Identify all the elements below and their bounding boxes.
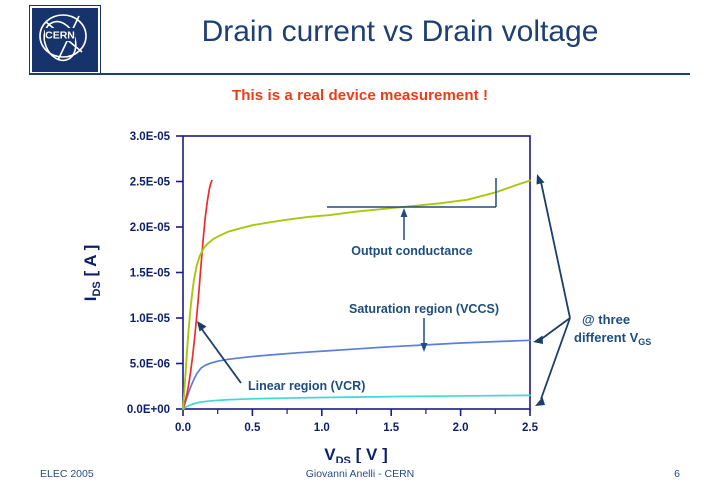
x-axis-title-main: V [324, 445, 336, 463]
x-axis-title: VDS [ V ] [324, 445, 387, 463]
x-tick-label: 1.5 [383, 422, 400, 434]
three-vgs-label-line2: different VGS [574, 330, 651, 347]
cern-logo: CERN [30, 6, 100, 74]
y-tick-label: 2.5E-05 [130, 177, 171, 189]
x-axis-title-unit: [ V ] [356, 445, 388, 463]
three-vgs-label-line2-sub: GS [638, 337, 651, 347]
y-axis-ticks [176, 136, 183, 409]
y-axis-title-sub: DS [91, 281, 103, 296]
y-tick-label: 1.0E-05 [130, 313, 171, 325]
id-vs-vds-chart: 0.0E+00 5.0E-06 1.0E-05 1.5E-05 2.0E-05 … [0, 118, 720, 463]
saturation-region-label: Saturation region (VCCS) [349, 302, 499, 316]
three-vgs-label-line2-pre: different V [574, 330, 639, 345]
footer-author-label: Giovanni Anelli - CERN [0, 468, 720, 480]
x-axis-ticks [183, 409, 530, 416]
linear-region-label: Linear region (VCR) [248, 379, 365, 393]
x-tick-label: 1.0 [314, 422, 330, 434]
plot-axes [183, 136, 530, 409]
three-vgs-label-line1: @ three [582, 312, 630, 327]
slide-header: CERN Drain current vs Drain voltage [0, 0, 720, 78]
output-conductance-label: Output conductance [351, 244, 473, 258]
y-tick-labels: 0.0E+00 5.0E-06 1.0E-05 1.5E-05 2.0E-05 … [127, 131, 171, 416]
y-tick-label: 1.5E-05 [130, 268, 171, 280]
y-tick-label: 5.0E-06 [130, 359, 170, 371]
cern-logo-text: CERN [45, 30, 75, 42]
x-tick-label: 2.0 [453, 422, 469, 434]
cern-logo-graphic: CERN [32, 8, 94, 68]
x-tick-label: 0.0 [175, 422, 191, 434]
header-divider [30, 73, 690, 75]
page-title: Drain current vs Drain voltage [120, 12, 680, 52]
chart-canvas: 0.0E+00 5.0E-06 1.0E-05 1.5E-05 2.0E-05 … [0, 118, 720, 463]
x-tick-label: 2.5 [522, 422, 539, 434]
slide-footer: ELEC 2005 Giovanni Anelli - CERN 6 [0, 468, 720, 486]
x-axis-title-sub: DS [336, 455, 351, 463]
y-axis-title: IDS [ A ] [81, 245, 103, 302]
y-axis-title-unit: [ A ] [81, 245, 100, 277]
footer-page-number: 6 [674, 468, 680, 480]
subtitle-banner: This is a real device measurement ! [0, 87, 720, 104]
y-tick-label: 2.0E-05 [130, 222, 171, 234]
y-tick-label: 0.0E+00 [127, 404, 170, 416]
three-vgs-annotation: @ three different VGS [533, 174, 651, 406]
y-tick-label: 3.0E-05 [130, 131, 171, 143]
x-tick-labels: 0.0 0.5 1.0 1.5 2.0 2.5 [175, 422, 539, 434]
x-tick-label: 0.5 [244, 422, 261, 434]
